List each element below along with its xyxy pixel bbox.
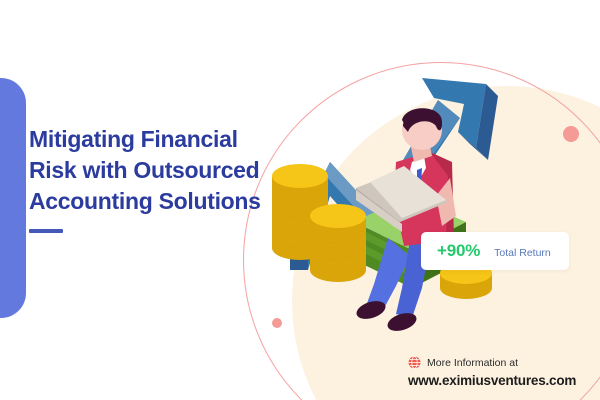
illustration-person-with-laptop-on-money-stack — [270, 70, 570, 340]
footer-note-row: More Information at — [408, 356, 592, 369]
stat-label: Total Return — [494, 247, 551, 259]
headline-line-3: Accounting Solutions — [29, 188, 261, 214]
headline-underline-accent — [29, 229, 63, 233]
headline-line-1: Mitigating Financial — [29, 126, 238, 152]
footer-url[interactable]: www.eximiusventures.com — [408, 373, 592, 388]
page-title: Mitigating FinancialRisk with Outsourced… — [29, 124, 297, 217]
left-accent-bar — [0, 78, 26, 318]
stat-badge: +90% Total Return — [421, 232, 569, 270]
headline-line-2: Risk with Outsourced — [29, 157, 259, 183]
footer-note-text: More Information at — [427, 357, 518, 369]
footer: More Information at www.eximiusventures.… — [408, 356, 592, 388]
marketing-banner: Mitigating FinancialRisk with Outsourced… — [0, 0, 600, 400]
headline-block: Mitigating FinancialRisk with Outsourced… — [29, 124, 297, 233]
globe-icon — [408, 356, 421, 369]
stat-value: +90% — [437, 241, 480, 261]
